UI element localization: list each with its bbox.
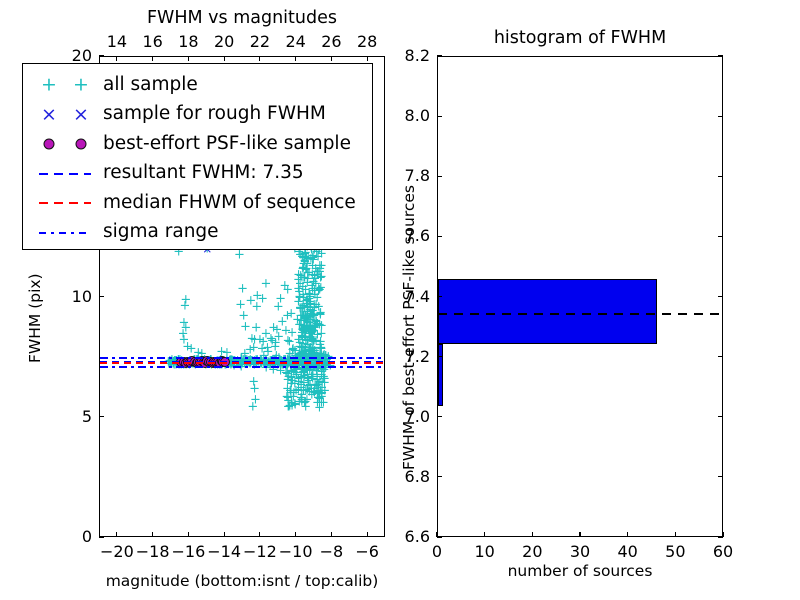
x-top-tick-mark <box>331 56 332 61</box>
x-tick-mark <box>152 532 153 537</box>
scatter-point-all-sample: + <box>298 272 309 285</box>
scatter-point-all-sample: + <box>299 310 310 323</box>
x-top-tick-label: 18 <box>168 32 208 51</box>
scatter-point-all-sample: + <box>311 334 322 347</box>
scatter-point-all-sample: + <box>260 277 271 290</box>
scatter-point-all-sample: + <box>245 294 256 307</box>
x-top-tick-label: 24 <box>276 32 316 51</box>
x-tick-label: −16 <box>168 542 208 561</box>
x-top-tick-mark <box>295 56 296 61</box>
reference-line-median-fhwm-of-sequence <box>100 362 384 364</box>
scatter-point-all-sample: + <box>308 348 319 361</box>
x-tick-label: −14 <box>204 542 244 561</box>
fwhm-histogram-plot[interactable] <box>437 56 723 537</box>
legend-item[interactable]: best-effort PSF-like sample <box>29 129 351 159</box>
scatter-point-all-sample: + <box>254 333 265 346</box>
x-tick-mark <box>331 532 332 537</box>
scatter-point-all-sample: + <box>282 392 293 405</box>
scatter-point-all-sample: + <box>300 384 311 397</box>
x-top-tick-mark <box>152 56 153 61</box>
x-top-tick-label: 28 <box>347 32 387 51</box>
hist-y-tick-mark-right <box>718 536 723 537</box>
legend-handle <box>29 129 103 159</box>
scatter-point-all-sample: + <box>282 334 293 347</box>
x-top-tick-mark <box>116 56 117 61</box>
hist-x-tick-label: 30 <box>560 542 600 561</box>
scatter-point-all-sample: + <box>294 292 305 305</box>
hist-y-tick-label: 8.0 <box>389 106 430 125</box>
y-tick-label: 0 <box>59 527 92 546</box>
legend-item-label: best-effort PSF-like sample <box>103 135 351 154</box>
hist-y-tick-mark <box>437 476 442 477</box>
legend-handle: ++ <box>29 70 103 100</box>
legend-handle <box>29 188 103 218</box>
y-tick-mark <box>99 55 104 56</box>
y-tick-label: 10 <box>59 287 92 306</box>
x-tick-label: −6 <box>347 542 387 561</box>
legend-item[interactable]: ++all sample <box>29 70 198 100</box>
hist-y-tick-mark-right <box>718 176 723 177</box>
dashdot-line-icon <box>39 232 91 234</box>
reference-line-sigma-lower <box>100 366 384 368</box>
figure-canvas: FWHM vs magnitudes 1416182022242628 −20−… <box>0 0 800 600</box>
x-top-tick-label: 16 <box>133 32 173 51</box>
cross-icon: × <box>73 105 89 124</box>
x-tick-label: −8 <box>311 542 351 561</box>
legend-item[interactable]: median FHWM of sequence <box>29 188 356 218</box>
left-panel-ylabel: FWHM (pix) <box>26 273 44 363</box>
x-top-tick-mark <box>367 56 368 61</box>
plus-icon: + <box>73 76 89 95</box>
x-top-tick-mark <box>188 56 189 61</box>
x-tick-label: −12 <box>240 542 280 561</box>
dashed-line-icon <box>39 202 91 204</box>
hist-y-tick-mark-right <box>718 356 723 357</box>
legend-item-label: sigma range <box>103 223 219 242</box>
hist-y-tick-mark <box>437 176 442 177</box>
scatter-point-all-sample: + <box>310 262 321 275</box>
hist-y-tick-label: 7.8 <box>389 166 430 185</box>
legend-item[interactable]: ××sample for rough FWHM <box>29 100 326 130</box>
x-top-tick-mark <box>224 56 225 61</box>
hist-y-tick-mark-right <box>718 416 723 417</box>
hist-y-tick-mark <box>437 356 442 357</box>
histogram-bar[interactable] <box>438 344 443 406</box>
x-tick-mark <box>224 532 225 537</box>
hist-x-tick-label: 10 <box>465 542 505 561</box>
hist-y-tick-mark <box>437 55 442 56</box>
legend-item[interactable]: sigma range <box>29 218 219 248</box>
scatter-point-all-sample: + <box>279 279 290 292</box>
scatter-point-all-sample: + <box>234 249 245 262</box>
right-panel-title: histogram of FWHM <box>437 28 723 48</box>
x-tick-label: −10 <box>276 542 316 561</box>
y-tick-mark <box>99 296 104 297</box>
hist-x-tick-label: 50 <box>655 542 695 561</box>
dashed-line-icon <box>39 173 91 175</box>
legend-item-label: sample for rough FWHM <box>103 105 326 124</box>
x-top-tick-label: 20 <box>204 32 244 51</box>
legend-item[interactable]: resultant FWHM: 7.35 <box>29 159 304 189</box>
hist-y-tick-mark-right <box>718 55 723 56</box>
hist-y-tick-label: 6.6 <box>389 527 430 546</box>
legend-handle <box>29 218 103 248</box>
hist-y-tick-mark <box>437 296 442 297</box>
hist-x-tick-mark <box>484 532 485 537</box>
hist-x-tick-mark <box>675 532 676 537</box>
circle-icon <box>76 139 87 150</box>
hist-x-tick-mark <box>627 532 628 537</box>
scatter-point-all-sample: + <box>267 334 278 347</box>
legend-item-label: resultant FWHM: 7.35 <box>103 164 304 183</box>
hist-y-tick-mark-right <box>718 116 723 117</box>
reference-line-resultant-fwhm <box>438 313 722 315</box>
x-top-tick-label: 26 <box>311 32 351 51</box>
left-panel-xlabel: magnitude (bottom:isnt / top:calib) <box>99 572 385 590</box>
x-tick-mark <box>259 532 260 537</box>
hist-x-tick-label: 20 <box>512 542 552 561</box>
cross-icon: × <box>41 105 57 124</box>
hist-y-tick-mark <box>437 116 442 117</box>
x-top-tick-label: 22 <box>240 32 280 51</box>
hist-y-tick-mark-right <box>718 296 723 297</box>
scatter-point-all-sample: + <box>179 299 190 312</box>
scatter-point-all-sample: + <box>273 300 284 313</box>
legend-handle: ×× <box>29 100 103 130</box>
x-tick-mark <box>116 532 117 537</box>
legend[interactable]: ++all sample××sample for rough FWHMbest-… <box>22 63 373 250</box>
hist-y-tick-label: 8.2 <box>389 46 430 65</box>
hist-y-tick-mark-right <box>718 476 723 477</box>
legend-item-label: all sample <box>103 76 198 95</box>
legend-handle <box>29 159 103 189</box>
x-tick-label: −20 <box>97 542 137 561</box>
x-tick-mark <box>295 532 296 537</box>
hist-y-tick-mark <box>437 236 442 237</box>
x-top-tick-label: 14 <box>97 32 137 51</box>
scatter-point-all-sample: + <box>238 309 249 322</box>
scatter-point-all-sample: + <box>313 301 324 314</box>
y-tick-label: 5 <box>59 407 92 426</box>
y-tick-mark <box>99 536 104 537</box>
hist-x-tick-mark <box>579 532 580 537</box>
hist-x-tick-label: 40 <box>608 542 648 561</box>
y-tick-mark <box>99 416 104 417</box>
hist-y-tick-mark-right <box>718 236 723 237</box>
x-tick-mark <box>367 532 368 537</box>
hist-y-tick-mark <box>437 416 442 417</box>
histogram-plot-area <box>438 57 722 536</box>
circle-icon <box>44 139 55 150</box>
hist-x-tick-label: 60 <box>703 542 743 561</box>
left-panel-title: FWHM vs magnitudes <box>99 8 385 28</box>
hist-x-tick-mark <box>532 532 533 537</box>
plus-icon: + <box>41 76 57 95</box>
scatter-point-all-sample: + <box>309 284 320 297</box>
x-tick-mark <box>188 532 189 537</box>
hist-ylabel: FWHM of best-effort PSF-like sources <box>400 185 418 470</box>
reference-line-sigma-upper <box>100 357 384 359</box>
scatter-point-all-sample: + <box>247 400 258 413</box>
x-top-tick-mark <box>259 56 260 61</box>
legend-item-label: median FHWM of sequence <box>103 194 356 213</box>
x-tick-label: −18 <box>133 542 173 561</box>
hist-y-tick-mark <box>437 536 442 537</box>
hist-xlabel: number of sources <box>437 562 723 580</box>
